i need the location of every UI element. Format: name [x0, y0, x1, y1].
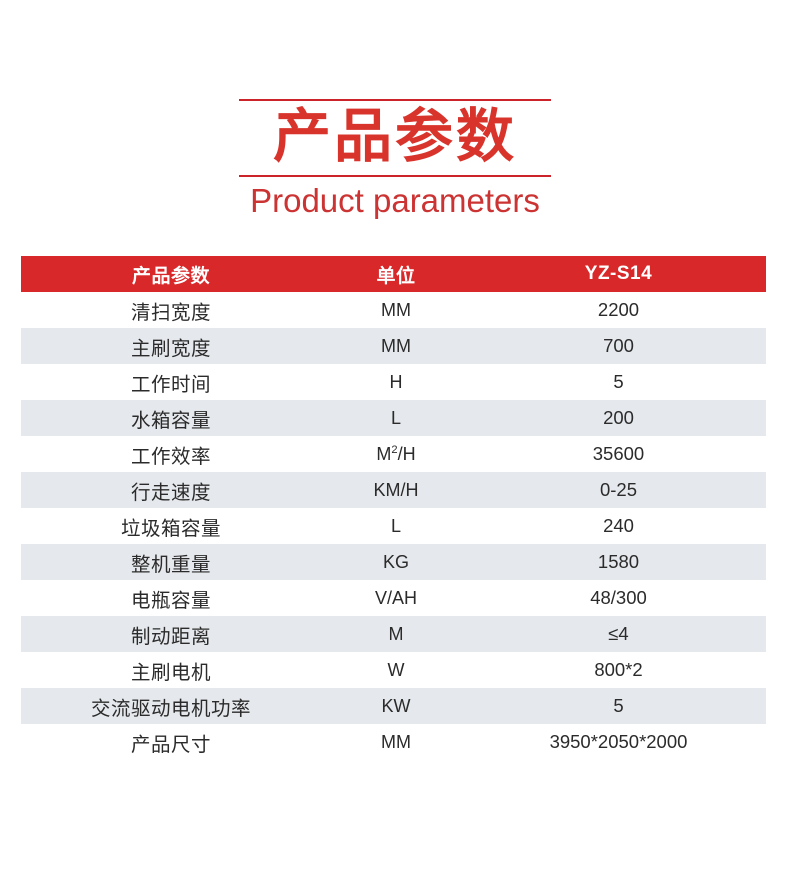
- cell-unit: KM/H: [321, 472, 471, 508]
- table-row: 行走速度KM/H0-25: [21, 472, 766, 508]
- table-header-row: 产品参数 单位 YZ-S14: [21, 256, 766, 292]
- cell-value: 2200: [471, 292, 766, 328]
- cell-unit: L: [321, 508, 471, 544]
- cell-unit: MM: [321, 292, 471, 328]
- column-header-model: YZ-S14: [471, 256, 766, 292]
- parameters-table: 产品参数 单位 YZ-S14 清扫宽度MM2200主刷宽度MM700工作时间H5…: [21, 256, 766, 760]
- title-block: 产品参数 Product parameters: [0, 0, 790, 246]
- cell-value: 0-25: [471, 472, 766, 508]
- table-row: 主刷电机W800*2: [21, 652, 766, 688]
- cell-unit: L: [321, 400, 471, 436]
- cell-parameter-name: 清扫宽度: [21, 292, 321, 328]
- table-row: 产品尺寸MM3950*2050*2000: [21, 724, 766, 760]
- page-title-cn: 产品参数: [273, 101, 517, 175]
- unit-superscript: 2: [391, 444, 397, 456]
- cell-value: ≤4: [471, 616, 766, 652]
- cell-value: 800*2: [471, 652, 766, 688]
- cell-parameter-name: 交流驱动电机功率: [21, 688, 321, 724]
- table-row: 主刷宽度MM700: [21, 328, 766, 364]
- cell-unit: MM: [321, 724, 471, 760]
- table-row: 垃圾箱容量L240: [21, 508, 766, 544]
- product-parameters-page: 产品参数 Product parameters 产品参数 单位 YZ-S14 清…: [0, 0, 790, 873]
- cell-value: 1580: [471, 544, 766, 580]
- cell-parameter-name: 水箱容量: [21, 400, 321, 436]
- table-row: 清扫宽度MM2200: [21, 292, 766, 328]
- cell-parameter-name: 制动距离: [21, 616, 321, 652]
- cell-value: 3950*2050*2000: [471, 724, 766, 760]
- cell-unit: M2/H: [321, 436, 471, 472]
- cell-value: 48/300: [471, 580, 766, 616]
- cell-parameter-name: 整机重量: [21, 544, 321, 580]
- cell-parameter-name: 电瓶容量: [21, 580, 321, 616]
- cell-parameter-name: 行走速度: [21, 472, 321, 508]
- page-title-en: Product parameters: [250, 177, 540, 223]
- cell-unit: W: [321, 652, 471, 688]
- table-head: 产品参数 单位 YZ-S14: [21, 256, 766, 292]
- cell-value: 200: [471, 400, 766, 436]
- cell-unit: V/AH: [321, 580, 471, 616]
- table-body: 清扫宽度MM2200主刷宽度MM700工作时间H5水箱容量L200工作效率M2/…: [21, 292, 766, 760]
- cell-unit: KW: [321, 688, 471, 724]
- cell-unit: M: [321, 616, 471, 652]
- cell-value: 5: [471, 688, 766, 724]
- column-header-unit: 单位: [321, 256, 471, 292]
- cell-parameter-name: 产品尺寸: [21, 724, 321, 760]
- cell-parameter-name: 主刷电机: [21, 652, 321, 688]
- cell-unit: MM: [321, 328, 471, 364]
- cell-value: 35600: [471, 436, 766, 472]
- cell-parameter-name: 主刷宽度: [21, 328, 321, 364]
- table-row: 电瓶容量V/AH48/300: [21, 580, 766, 616]
- cell-value: 700: [471, 328, 766, 364]
- table-row: 制动距离M≤4: [21, 616, 766, 652]
- cell-parameter-name: 工作效率: [21, 436, 321, 472]
- table-row: 工作效率M2/H35600: [21, 436, 766, 472]
- table-row: 交流驱动电机功率KW5: [21, 688, 766, 724]
- table-row: 整机重量KG1580: [21, 544, 766, 580]
- cell-unit: H: [321, 364, 471, 400]
- table-row: 工作时间H5: [21, 364, 766, 400]
- cell-value: 240: [471, 508, 766, 544]
- cell-parameter-name: 工作时间: [21, 364, 321, 400]
- table-row: 水箱容量L200: [21, 400, 766, 436]
- cell-value: 5: [471, 364, 766, 400]
- column-header-param: 产品参数: [21, 256, 321, 292]
- cell-unit: KG: [321, 544, 471, 580]
- cell-parameter-name: 垃圾箱容量: [21, 508, 321, 544]
